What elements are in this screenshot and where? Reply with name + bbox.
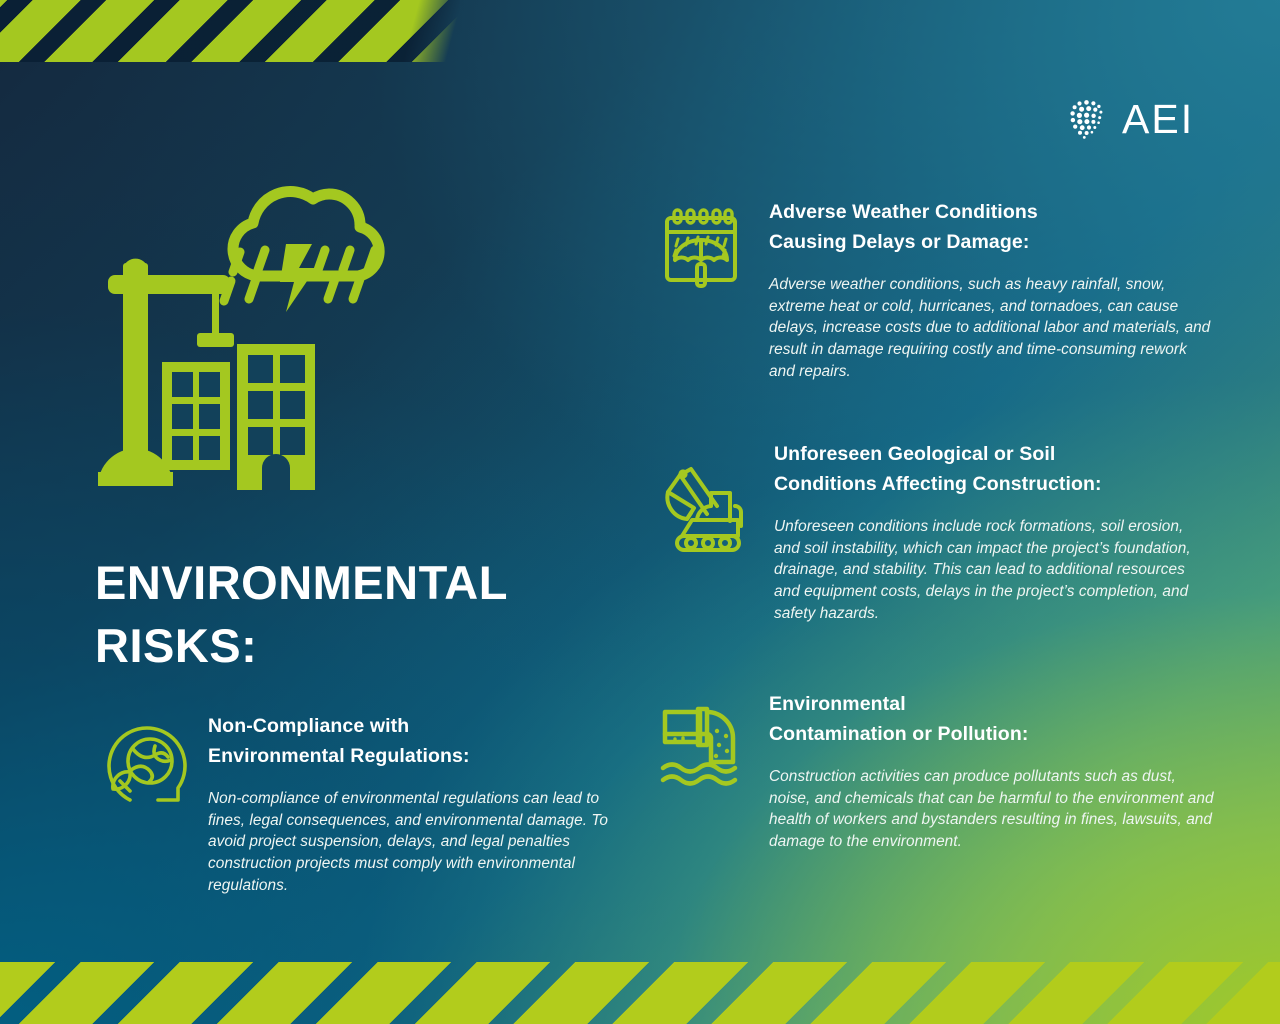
page-title-line1: ENVIRONMENTAL [95,552,565,615]
card-pollution-body: Construction activities can produce poll… [769,766,1215,854]
aei-logo: AEI [1066,96,1194,142]
risk-card-compliance: Non-Compliance with Environmental Regula… [100,712,620,897]
pipe-discharge-water-pollution-icon [655,700,747,797]
card-pollution-heading-line2: Contamination or Pollution: [769,723,1028,745]
risk-card-weather: Adverse Weather Conditions Causing Delay… [655,198,1215,383]
card-weather-body: Adverse weather conditions, such as heav… [769,274,1215,383]
card-geological-heading-line1: Unforeseen Geological or Soil [774,443,1055,465]
card-geological-body: Unforeseen conditions include rock forma… [774,516,1210,625]
infographic-canvas: AEI [0,0,1280,1024]
page-title-line2: RISKS: [95,615,565,678]
risk-card-geological: Unforeseen Geological or Soil Conditions… [650,440,1210,625]
construction-site-storm-illustration [90,150,420,510]
aei-dotted-globe-icon [1066,96,1112,142]
calendar-umbrella-rain-icon [655,204,747,301]
card-weather-heading-line2: Causing Delays or Damage: [769,231,1029,253]
bottom-diagonal-stripe-band [0,962,1280,1024]
page-title: ENVIRONMENTAL RISKS: [95,552,565,677]
excavator-icon [650,458,750,563]
card-compliance-heading-line1: Non-Compliance with [208,715,409,737]
card-compliance-body: Non-compliance of environmental regulati… [208,788,620,897]
card-weather-heading-line1: Adverse Weather Conditions [769,201,1038,223]
risk-card-pollution: Environmental Contamination or Pollution… [655,690,1215,853]
card-compliance-heading-line2: Environmental Regulations: [208,745,470,767]
card-geological-heading-line2: Conditions Affecting Construction: [774,473,1102,495]
logo-wordmark: AEI [1122,99,1194,140]
card-pollution-heading-line1: Environmental [769,693,906,715]
globe-leaf-icon [100,720,192,813]
top-diagonal-stripe-band [0,0,460,62]
